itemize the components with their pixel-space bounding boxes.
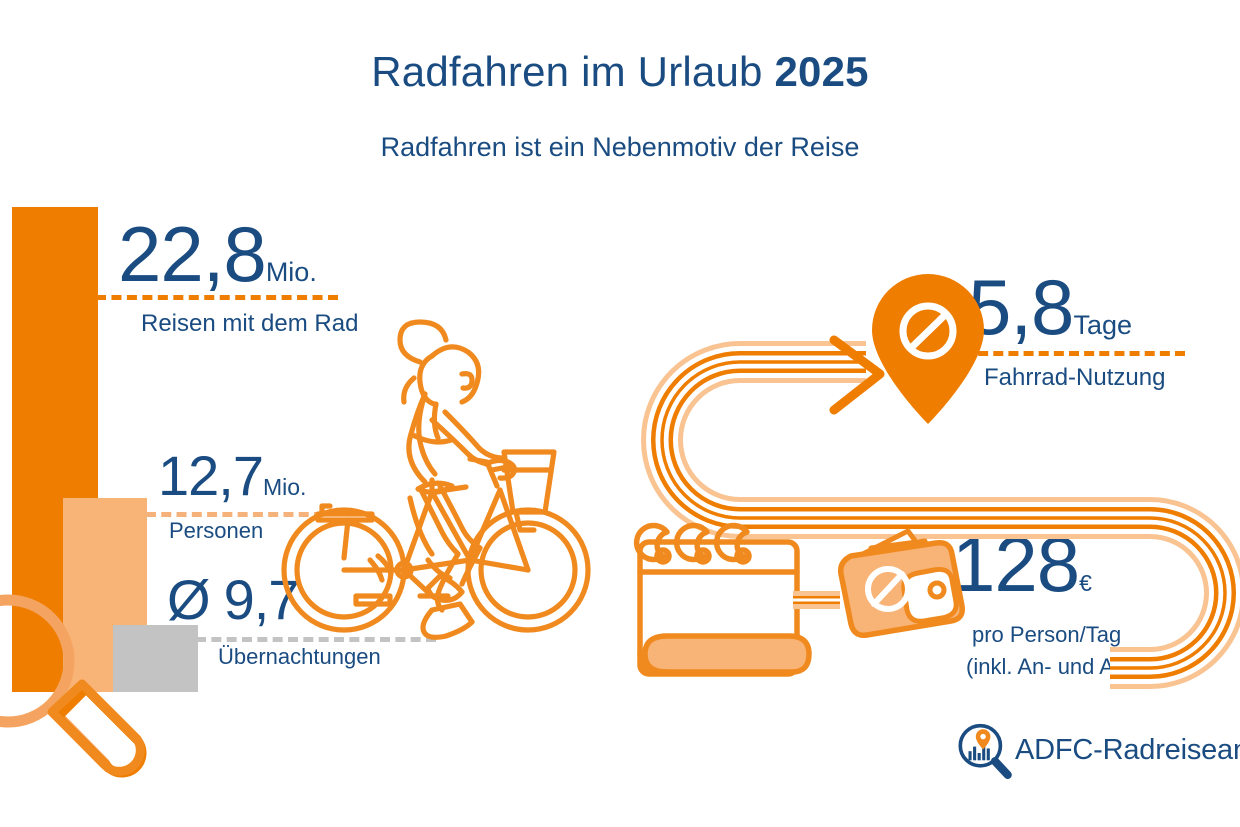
magnifier-handle-icon [52,684,140,771]
illustration-layer [0,0,1240,827]
map-pin-icon [872,274,984,424]
calendar-icon [637,526,809,674]
magnifier-icon [0,600,142,773]
adfc-logo-text: ADFC-Radreiseanalyse [1015,734,1240,767]
wallet-icon [841,531,963,635]
adfc-magnifier-chart-icon [955,722,1013,784]
cyclist-illustration [284,322,588,637]
adfc-logo[interactable]: ADFC-Radreiseanalyse [955,722,1240,790]
infographic-canvas: Radfahren im Urlaub 2025 Radfahren ist e… [0,0,1240,827]
